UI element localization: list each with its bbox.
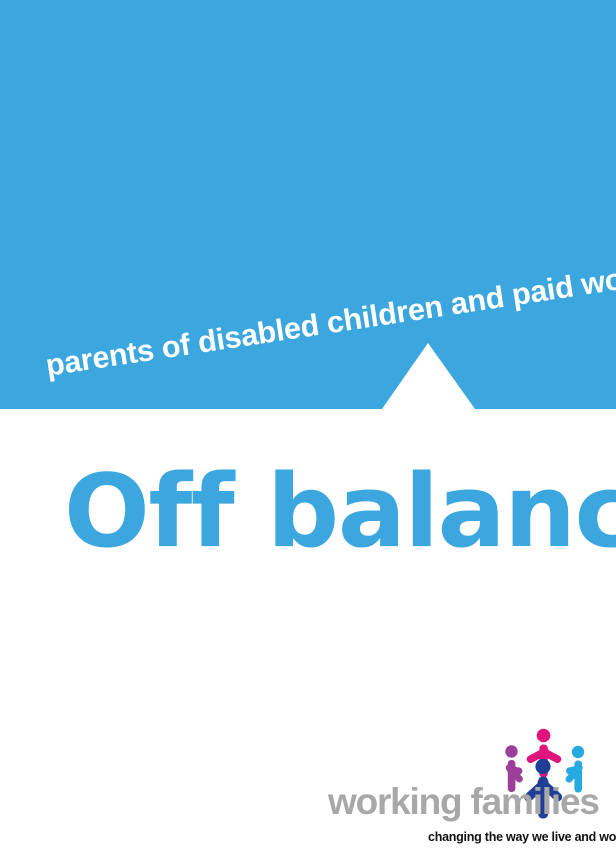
header-blue-band [0, 0, 616, 409]
working-families-logo: working families changing the way we liv… [326, 726, 594, 844]
logo-strapline-text: changing the way we live and work [428, 830, 616, 844]
cover-page: parents of disabled children and paid wo… [0, 0, 616, 866]
triangle-notch-shape [382, 343, 475, 409]
logo-wordmark-text: working families [328, 782, 599, 822]
cover-title: Off balance [64, 455, 616, 567]
